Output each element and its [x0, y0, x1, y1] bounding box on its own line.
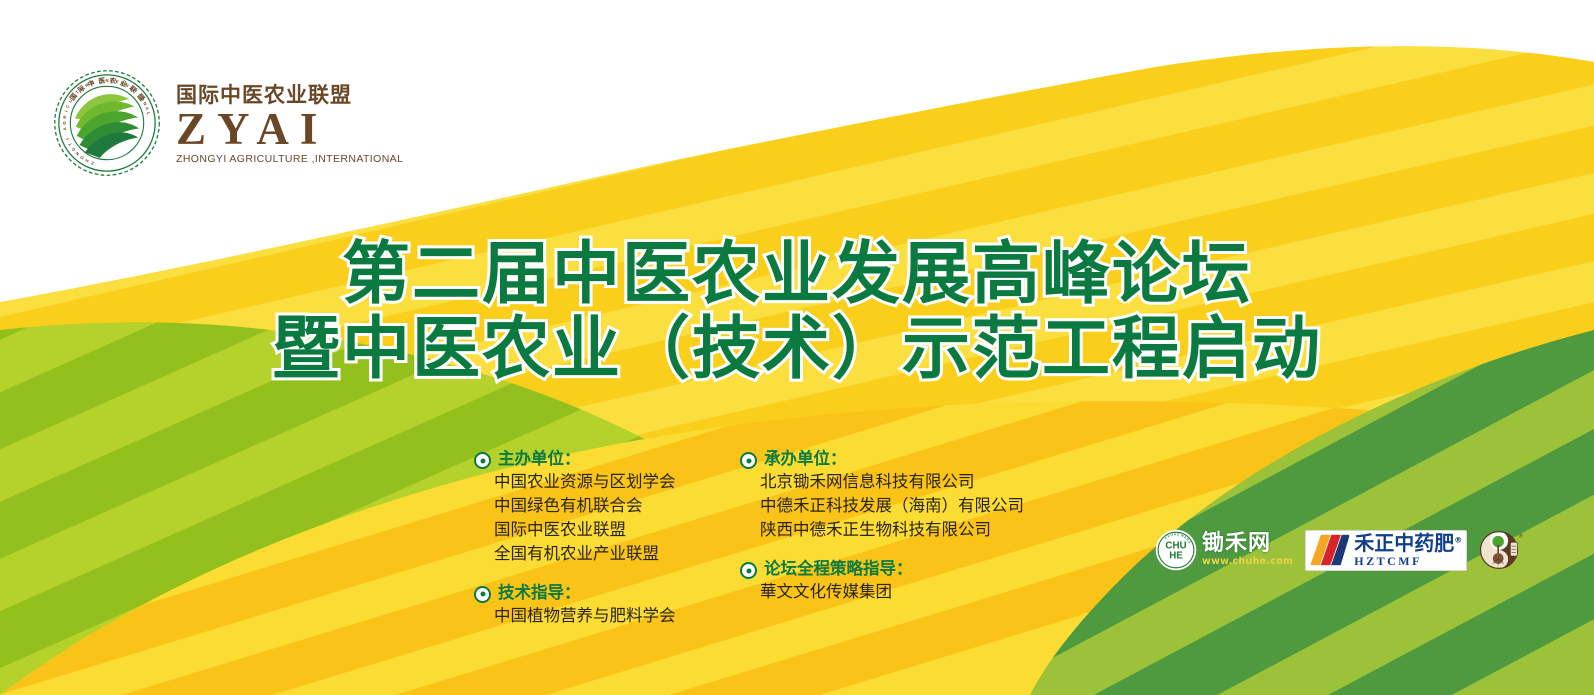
registered-icon: ®	[1519, 533, 1523, 540]
info-heading: 论坛全程策略指导：	[764, 558, 913, 580]
info-heading-row: 主办单位：	[474, 448, 676, 470]
organizers-column-left: 主办单位： 中国农业资源与区划学会 中国绿色有机联合会 国际中医农业联盟 全国有…	[474, 448, 676, 644]
svg-text:HE: HE	[1169, 550, 1183, 561]
sponsor-logo-chuhe: CHU HE C H U H E W A N G 锄禾网 www.chuhe.c…	[1155, 529, 1293, 571]
info-heading-row: 技术指导：	[474, 582, 676, 604]
registered-icon: ®	[1454, 535, 1462, 544]
info-group-organizers: 主办单位： 中国农业资源与区划学会 中国绿色有机联合会 国际中医农业联盟 全国有…	[474, 448, 676, 566]
info-group-technical-guidance: 技术指导： 中国植物营养与肥料学会	[474, 582, 676, 628]
info-heading-row: 论坛全程策略指导：	[740, 558, 1024, 580]
poster-canvas: 国 际 中 医 农 业 联 盟 Z H O N G Y I A G R I	[0, 0, 1594, 695]
zyai-acronym: ZYAI	[176, 108, 403, 151]
sponsor-logo-row: CHU HE C H U H E W A N G 锄禾网 www.chuhe.c…	[1155, 528, 1525, 572]
list-item: 中国农业资源与区划学会	[494, 470, 676, 494]
bullet-icon	[740, 452, 757, 469]
list-item: 陕西中德禾正生物科技有限公司	[760, 518, 1024, 542]
svg-text:G: G	[62, 121, 67, 125]
svg-text:N: N	[105, 78, 108, 83]
info-heading-row: 承办单位：	[740, 448, 1024, 470]
svg-text:A: A	[144, 106, 150, 111]
svg-text:H: H	[1174, 532, 1176, 536]
organizers-column-right: 承办单位： 北京锄禾网信息科技有限公司 中德禾正科技发展（海南）有限公司 陕西中…	[740, 448, 1024, 620]
svg-text:L: L	[146, 112, 152, 116]
hztcmf-plate: 禾正中药肥® HZTCMF	[1305, 530, 1467, 571]
list-item: 北京锄禾网信息科技有限公司	[760, 470, 1024, 494]
tree-seal-icon: ®	[1479, 528, 1525, 572]
svg-text:A: A	[62, 127, 67, 131]
info-heading: 技术指导：	[498, 582, 581, 604]
svg-text:G: G	[70, 146, 76, 152]
svg-text:C: C	[65, 104, 71, 109]
hztcmf-name-cn: 禾正中药肥®	[1354, 533, 1462, 553]
sponsor-logo-tree-seal: ®	[1479, 528, 1525, 572]
info-group-strategic-guidance: 论坛全程策略指导： 華文文化传媒集团	[740, 558, 1024, 604]
svg-text:Y: Y	[67, 142, 73, 147]
bullet-icon	[740, 562, 757, 579]
chuhe-name: 锄禾网	[1202, 533, 1293, 555]
list-item: 全国有机农业产业联盟	[494, 542, 676, 566]
list-item: 中国绿色有机联合会	[494, 494, 676, 518]
info-group-co-organizers: 承办单位： 北京锄禾网信息科技有限公司 中德禾正科技发展（海南）有限公司 陕西中…	[740, 448, 1024, 542]
zyai-logo: 国 际 中 医 农 业 联 盟 Z H O N G Y I A G R I	[52, 68, 403, 178]
sponsor-logo-hztcmf: 禾正中药肥® HZTCMF	[1305, 530, 1467, 571]
svg-text:O: O	[78, 154, 84, 160]
info-items: 中国植物营养与肥料学会	[474, 604, 676, 628]
svg-text:E: E	[115, 79, 119, 85]
info-items: 中国农业资源与区划学会 中国绿色有机联合会 国际中医农业联盟 全国有机农业产业联…	[474, 470, 676, 566]
svg-text:H: H	[84, 158, 89, 164]
svg-text:N: N	[74, 151, 80, 157]
svg-text:I: I	[63, 110, 68, 113]
chuhe-seal-icon: CHU HE C H U H E W A N G	[1155, 529, 1197, 571]
list-item: 中德禾正科技发展（海南）有限公司	[760, 494, 1024, 518]
info-items: 華文文化传媒集团	[740, 580, 1024, 604]
chuhe-url: www.chuhe.com	[1202, 557, 1293, 567]
zyai-name-en: ZHONGYI AGRICULTURE ,INTERNATIONAL	[176, 154, 403, 165]
hztcmf-stripe-icon	[1310, 534, 1350, 566]
svg-text:N: N	[142, 101, 148, 106]
info-heading: 承办单位：	[764, 448, 847, 470]
list-item: 中国植物营养与肥料学会	[494, 604, 676, 628]
list-item: 国际中医农业联盟	[494, 518, 676, 542]
svg-text:I: I	[65, 138, 70, 141]
hztcmf-name-en: HZTCMF	[1354, 555, 1462, 567]
zyai-wordmark: 国际中医农业联盟 ZYAI ZHONGYI AGRICULTURE ,INTER…	[176, 81, 403, 164]
info-items: 北京锄禾网信息科技有限公司 中德禾正科技发展（海南）有限公司 陕西中德禾正生物科…	[740, 470, 1024, 542]
svg-text:R: R	[62, 115, 67, 119]
bullet-icon	[474, 452, 491, 469]
zyai-seal-icon: 国 际 中 医 农 业 联 盟 Z H O N G Y I A G R I	[52, 68, 162, 178]
bullet-icon	[474, 586, 491, 603]
list-item: 華文文化传媒集团	[760, 580, 1024, 604]
svg-text:Z: Z	[90, 160, 95, 166]
zyai-name-cn: 国际中医农业联盟	[176, 85, 403, 106]
info-heading: 主办单位：	[498, 448, 581, 470]
